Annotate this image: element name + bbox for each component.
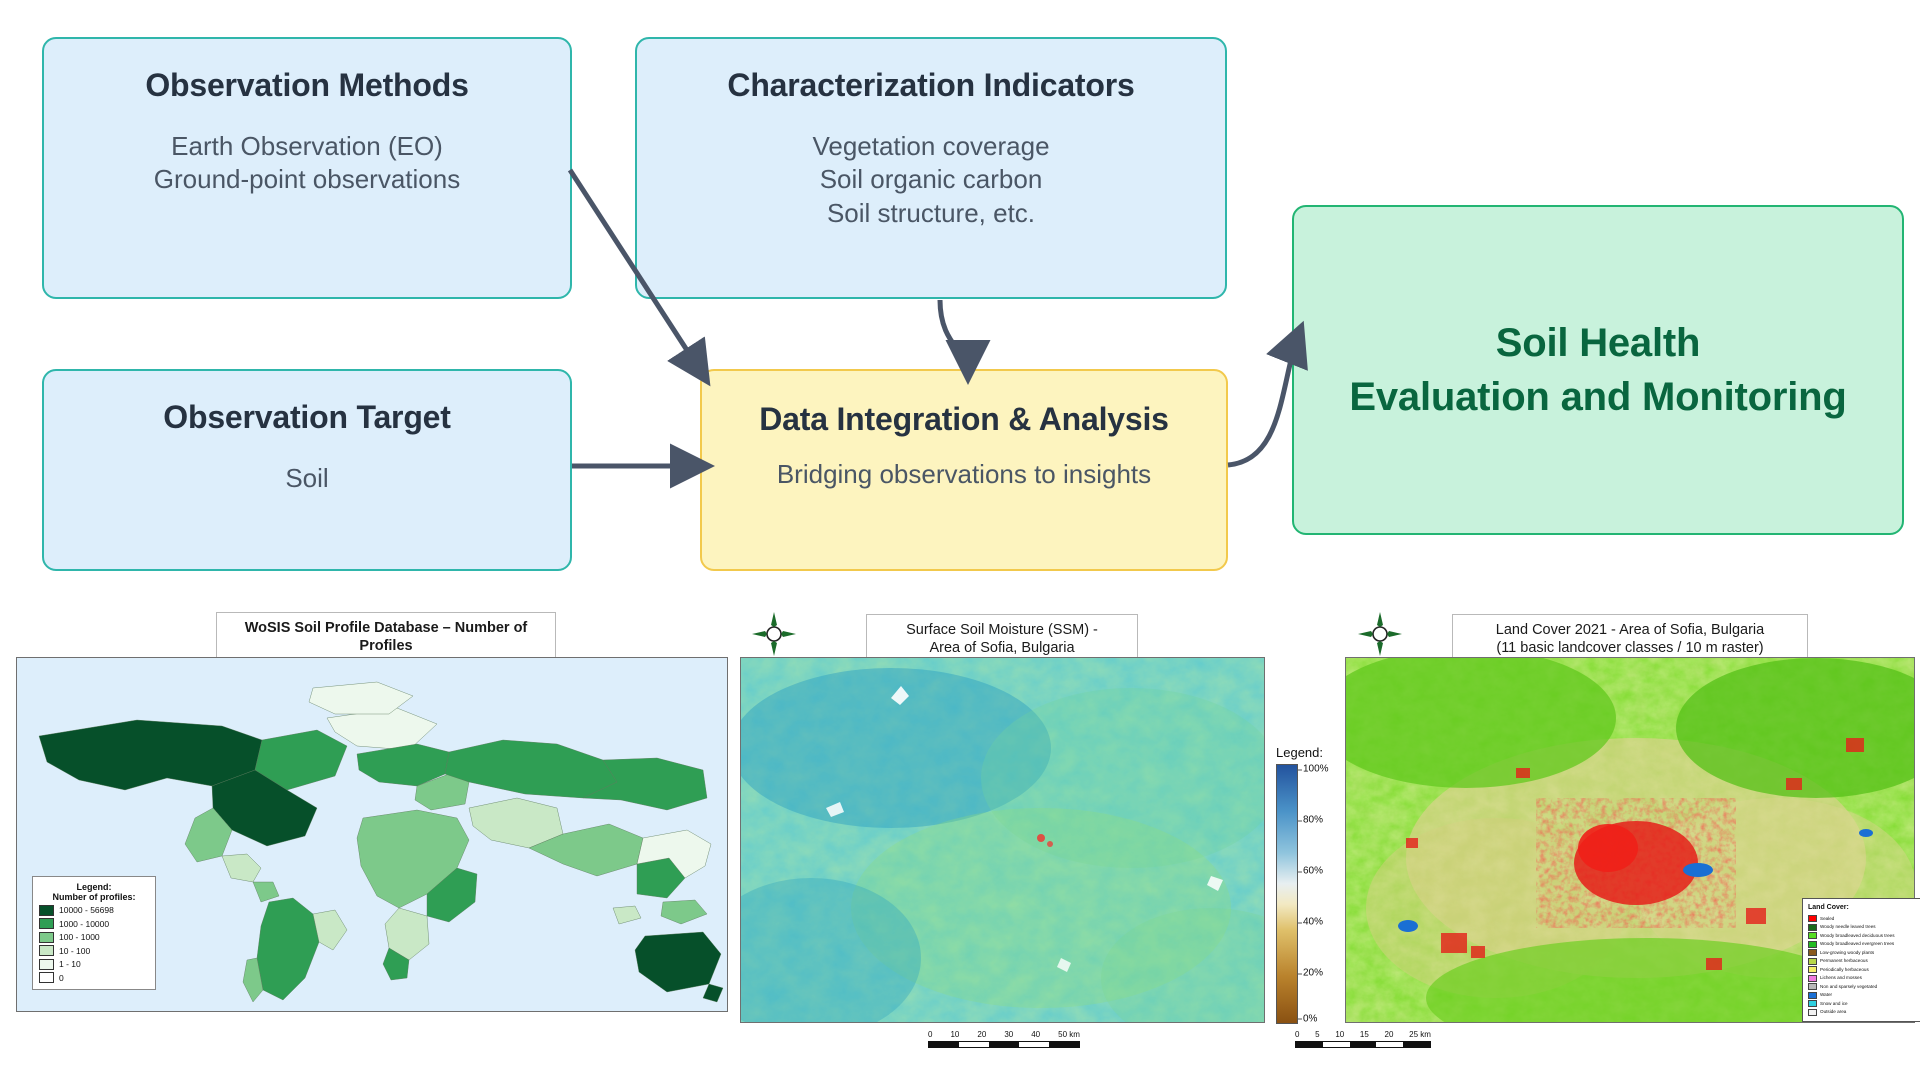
legend-item: 100 - 1000: [39, 932, 149, 943]
legend-item: Low-growing woody plants: [1808, 949, 1916, 956]
legend-item: Outside area: [1808, 1009, 1916, 1016]
north-arrow-icon: [1358, 612, 1402, 656]
legend-swatch: [1808, 958, 1817, 965]
colorbar-tick: 0%: [1303, 1013, 1317, 1024]
node-subtext: Bridging observations to insights: [777, 458, 1151, 491]
node-title: Data Integration & Analysis: [759, 401, 1169, 438]
map-title-line1: Surface Soil Moisture (SSM) -: [877, 621, 1127, 639]
scalebar-tick: 0: [928, 1030, 932, 1039]
node-subtext: Vegetation coverage Soil organic carbon …: [812, 130, 1049, 230]
legend-item: Water: [1808, 992, 1916, 999]
node-observation-target: Observation Target Soil: [42, 369, 572, 571]
legend-item: Woody broadleaved evergreen trees: [1808, 941, 1916, 948]
legend-swatch: [1808, 932, 1817, 939]
legend-label: Periodically herbaceous: [1820, 967, 1869, 973]
node-title: Observation Methods: [145, 67, 468, 104]
colorbar-gradient: [1276, 764, 1298, 1024]
node-subtext: Earth Observation (EO) Ground-point obse…: [154, 130, 460, 197]
legend-item: Sealed: [1808, 915, 1916, 922]
legend-swatch: [39, 959, 54, 970]
scalebar-bar: [928, 1041, 1080, 1048]
legend-label: Woody needle leaved trees: [1820, 924, 1876, 930]
node-characterization-indicators: Characterization Indicators Vegetation c…: [635, 37, 1227, 299]
legend-swatch: [39, 945, 54, 956]
scalebar-tick: 25 km: [1409, 1030, 1431, 1039]
legend-label: 10 - 100: [59, 946, 90, 956]
legend-item: Non and sparsely vegetated: [1808, 983, 1916, 990]
legend-label: Permanent herbaceous: [1820, 958, 1868, 964]
node-title: Soil Health: [1496, 316, 1701, 370]
arrow-indicators-to-integration: [940, 300, 968, 375]
flow-diagram: Observation Methods Earth Observation (E…: [0, 0, 1920, 580]
legend-item: Snow and ice: [1808, 1000, 1916, 1007]
legend-label: Sealed: [1820, 916, 1834, 922]
legend-swatch: [39, 932, 54, 943]
legend-heading: Land Cover:: [1808, 903, 1916, 912]
node-title: Observation Target: [163, 399, 450, 436]
legend-item: 0: [39, 972, 149, 983]
colorbar-tick: 100%: [1303, 764, 1329, 775]
scalebar-tick: 20: [977, 1030, 986, 1039]
legend-label: Woody broadleaved deciduous trees: [1820, 933, 1895, 939]
map-title-line1: Land Cover 2021 - Area of Sofia, Bulgari…: [1463, 621, 1797, 639]
legend-item: 10000 - 56698: [39, 905, 149, 916]
scalebar-ticks: 0 5 10 15 20 25 km: [1295, 1030, 1431, 1039]
scalebar-tick: 10: [950, 1030, 959, 1039]
legend-wosis: Legend: Number of profiles: 10000 - 5669…: [32, 876, 156, 990]
legend-item: 1000 - 10000: [39, 918, 149, 929]
node-subtext: Soil: [285, 462, 328, 495]
node-subtext-line: Bridging observations to insights: [777, 458, 1151, 491]
legend-item: Periodically herbaceous: [1808, 966, 1916, 973]
scalebar-tick: 30: [1004, 1030, 1013, 1039]
ssm-colorbar-legend: Legend: 100% 80% 60% 40% 20% 0%: [1276, 745, 1342, 1024]
scalebar-ticks: 0 10 20 30 40 50 km: [928, 1030, 1080, 1039]
legend-item: Permanent herbaceous: [1808, 958, 1916, 965]
scalebar-tick: 15: [1360, 1030, 1369, 1039]
node-observation-methods: Observation Methods Earth Observation (E…: [42, 37, 572, 299]
legend-item: Woody broadleaved deciduous trees: [1808, 932, 1916, 939]
colorbar-tick: 80%: [1303, 815, 1323, 826]
legend-item: Woody needle leaved trees: [1808, 924, 1916, 931]
node-data-integration-analysis: Data Integration & Analysis Bridging obs…: [700, 369, 1228, 571]
legend-swatch: [1808, 949, 1817, 956]
arrow-integration-to-soil-health: [1228, 330, 1300, 465]
ssm-map-canvas: [740, 657, 1265, 1023]
colorbar-ticks: 100% 80% 60% 40% 20% 0%: [1298, 764, 1342, 1024]
scalebar-ssm: 0 10 20 30 40 50 km: [928, 1030, 1080, 1048]
node-soil-health: Soil Health Evaluation and Monitoring: [1292, 205, 1904, 535]
node-title-second-line: Evaluation and Monitoring: [1349, 370, 1846, 424]
legend-swatch: [1808, 1000, 1817, 1007]
ssm-raster-svg: [741, 658, 1265, 1023]
scalebar-tick: 5: [1315, 1030, 1319, 1039]
node-subtext-line: Earth Observation (EO): [154, 130, 460, 163]
legend-swatch: [1808, 966, 1817, 973]
colorbar-tick: 40%: [1303, 917, 1323, 928]
scalebar-landcover: 0 5 10 15 20 25 km: [1295, 1030, 1431, 1048]
legend-label: 100 - 1000: [59, 932, 100, 942]
node-subtext-line: Ground-point observations: [154, 163, 460, 196]
legend-swatch: [1808, 915, 1817, 922]
scalebar-tick: 40: [1031, 1030, 1040, 1039]
legend-label: Woody broadleaved evergreen trees: [1820, 941, 1894, 947]
legend-label: 10000 - 56698: [59, 905, 114, 915]
legend-label: 0: [59, 973, 64, 983]
legend-heading: Legend:: [39, 882, 149, 892]
legend-item: 10 - 100: [39, 945, 149, 956]
legend-swatch: [39, 918, 54, 929]
legend-swatch: [1808, 975, 1817, 982]
legend-label: Non and sparsely vegetated: [1820, 984, 1877, 990]
legend-item: 1 - 10: [39, 959, 149, 970]
node-title: Characterization Indicators: [727, 67, 1134, 104]
colorbar-tick: 20%: [1303, 968, 1323, 979]
legend-label: Water: [1820, 992, 1832, 998]
legend-subheading: Number of profiles:: [39, 892, 149, 902]
legend-label: 1 - 10: [59, 959, 81, 969]
node-subtext-line: Vegetation coverage: [812, 130, 1049, 163]
legend-label: Snow and ice: [1820, 1001, 1848, 1007]
colorbar-body: 100% 80% 60% 40% 20% 0%: [1276, 764, 1342, 1024]
legend-swatch: [1808, 924, 1817, 931]
map-title-line2: (11 basic landcover classes / 10 m raste…: [1463, 639, 1797, 657]
map-title-line1: WoSIS Soil Profile Database – Number of …: [227, 619, 545, 655]
legend-swatch: [39, 972, 54, 983]
legend-label: Lichens and mosses: [1820, 975, 1862, 981]
north-arrow-icon: [752, 612, 796, 656]
legend-label: Low-growing woody plants: [1820, 950, 1874, 956]
scalebar-tick: 10: [1335, 1030, 1344, 1039]
node-subtext-line: Soil organic carbon: [812, 163, 1049, 196]
scalebar-tick: 20: [1385, 1030, 1394, 1039]
legend-swatch: [39, 905, 54, 916]
scalebar-tick: 50 km: [1058, 1030, 1080, 1039]
legend-swatch: [1808, 983, 1817, 990]
legend-swatch: [1808, 1009, 1817, 1016]
legend-label: Outside area: [1820, 1009, 1846, 1015]
legend-swatch: [1808, 941, 1817, 948]
scalebar-tick: 0: [1295, 1030, 1299, 1039]
legend-landcover: Land Cover: Sealed Woody needle leaved t…: [1802, 898, 1920, 1022]
legend-item: Lichens and mosses: [1808, 975, 1916, 982]
legend-swatch: [1808, 992, 1817, 999]
colorbar-tick: 60%: [1303, 866, 1323, 877]
map-title-line2: Area of Sofia, Bulgaria: [877, 639, 1127, 657]
legend-label: 1000 - 10000: [59, 919, 109, 929]
node-subtext-line: Soil structure, etc.: [812, 197, 1049, 230]
node-subtext-line: Soil: [285, 462, 328, 495]
scalebar-bar: [1295, 1041, 1431, 1048]
colorbar-heading: Legend:: [1276, 745, 1342, 760]
